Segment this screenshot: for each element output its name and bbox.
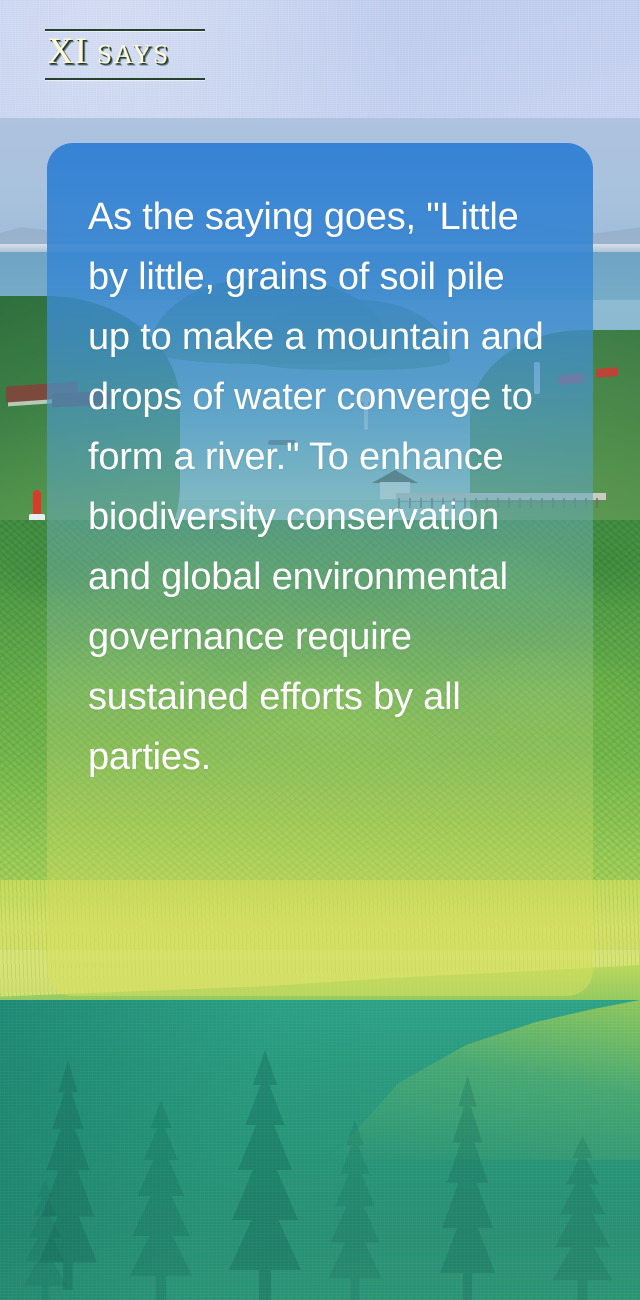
- quote-text: As the saying goes, "Little by little, g…: [88, 187, 553, 787]
- quote-card: As the saying goes, "Little by little, g…: [47, 143, 593, 996]
- village-red-roof-secondary: [596, 367, 618, 378]
- header-band: XISAYS: [0, 0, 640, 118]
- water-texture: [0, 1000, 640, 1300]
- brand-logo-text: XISAYS: [45, 33, 205, 78]
- brand-logo-says: SAYS: [97, 39, 170, 69]
- red-buoy: [33, 490, 41, 516]
- social-quote-card-page: XISAYS As the saying goes, "Little by li…: [0, 0, 640, 1300]
- logo-rule-bottom: [45, 78, 205, 80]
- brand-logo-xi: XI: [47, 31, 88, 72]
- brand-logo[interactable]: XISAYS: [45, 29, 205, 80]
